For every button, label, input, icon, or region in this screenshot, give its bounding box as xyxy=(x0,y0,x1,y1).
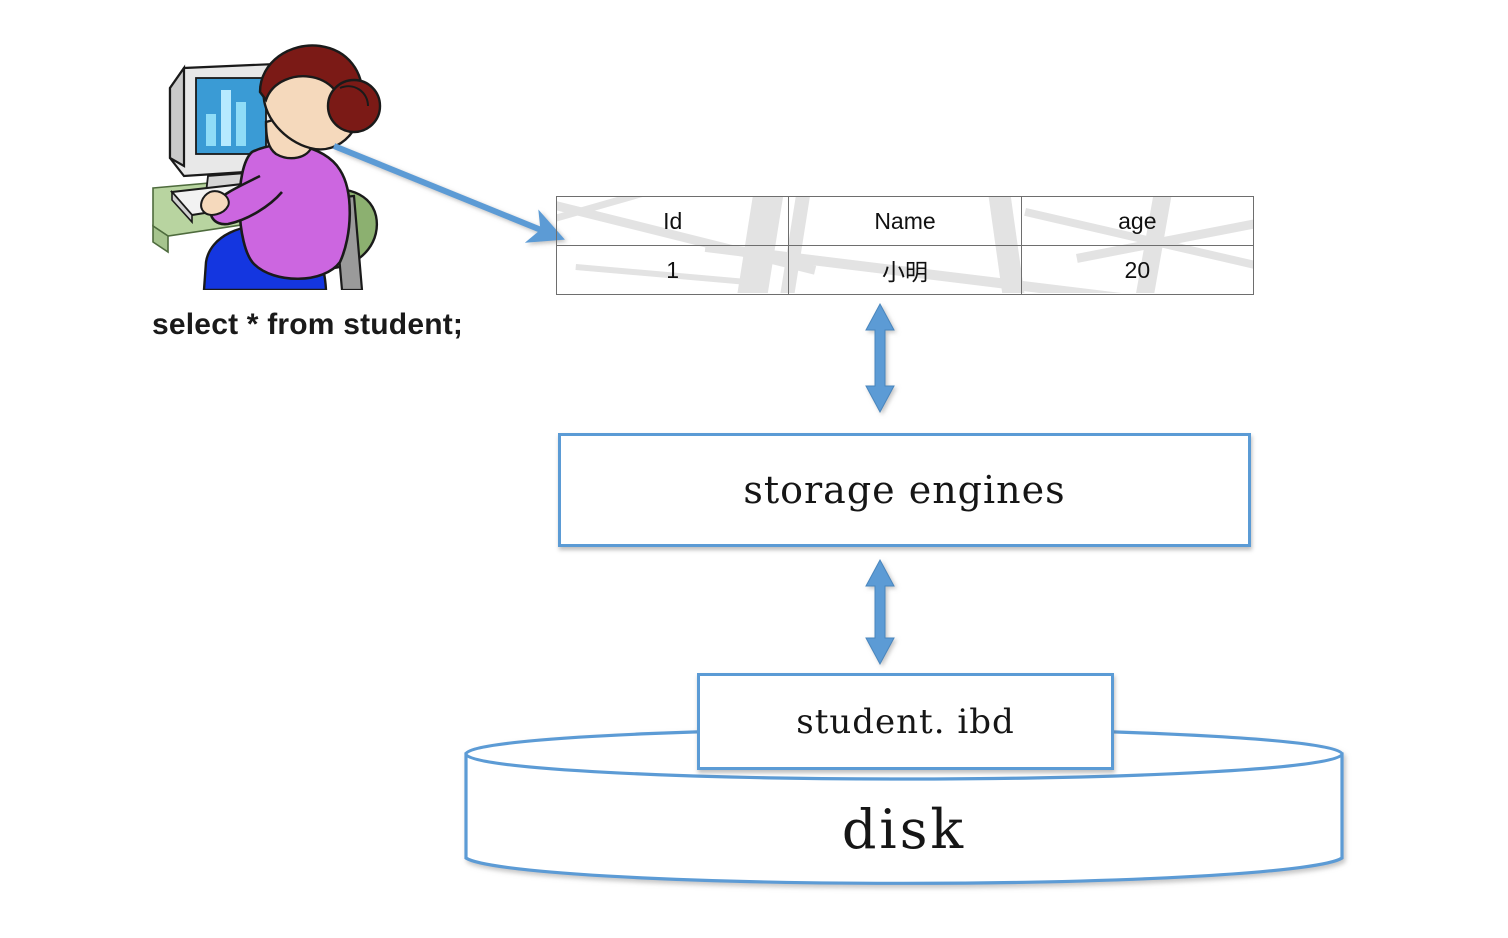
table-header-row: Id Name age xyxy=(557,197,1254,246)
cell-id: 1 xyxy=(557,246,789,295)
table-engine-arrow xyxy=(855,300,905,418)
storage-engines-box[interactable]: storage engines xyxy=(558,433,1251,547)
query-arrow xyxy=(330,140,570,250)
disk-label: disk xyxy=(462,798,1346,861)
engine-file-arrow xyxy=(855,558,905,668)
cell-name: 小明 xyxy=(789,246,1021,295)
result-table-container: Id Name age 1 小明 20 xyxy=(556,196,1254,293)
cell-age: 20 xyxy=(1021,246,1253,295)
sql-query-caption: select * from student; xyxy=(152,308,463,342)
student-ibd-label: student. ibd xyxy=(796,702,1014,742)
column-header-age: age xyxy=(1021,197,1253,246)
table-row: 1 小明 20 xyxy=(557,246,1254,295)
result-table: Id Name age 1 小明 20 xyxy=(556,196,1254,295)
student-ibd-box[interactable]: student. ibd xyxy=(697,673,1114,770)
storage-engines-label: storage engines xyxy=(743,468,1065,512)
column-header-id: Id xyxy=(557,197,789,246)
diagram-canvas: select * from student; xyxy=(0,0,1508,938)
column-header-name: Name xyxy=(789,197,1021,246)
